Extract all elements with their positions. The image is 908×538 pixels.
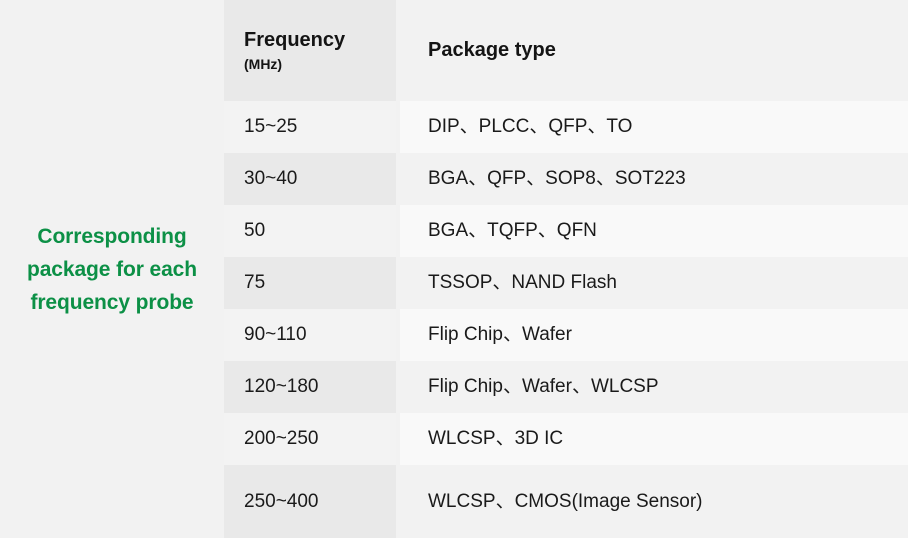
cell-package: BGA、QFP、SOP8、SOT223 [400, 153, 908, 205]
cell-package: Flip Chip、Wafer [400, 309, 908, 361]
frequency-value: 90~110 [244, 323, 396, 347]
cell-package: DIP、PLCC、QFP、TO [400, 101, 908, 153]
package-value: BGA、QFP、SOP8、SOT223 [428, 167, 908, 191]
package-value: TSSOP、NAND Flash [428, 271, 908, 295]
table-row: 15~25 DIP、PLCC、QFP、TO [224, 101, 908, 153]
table-row: 90~110 Flip Chip、Wafer [224, 309, 908, 361]
package-value: WLCSP、CMOS(Image Sensor) [428, 490, 908, 514]
caption-line-1: Corresponding [12, 220, 212, 253]
caption-line-2: package for each [12, 253, 212, 286]
package-value: Flip Chip、Wafer、WLCSP [428, 375, 908, 399]
frequency-value: 200~250 [244, 427, 396, 451]
table-row: 75 TSSOP、NAND Flash [224, 257, 908, 309]
header-frequency-unit: (MHz) [244, 54, 396, 74]
table-row: 250~400 WLCSP、CMOS(Image Sensor) [224, 465, 908, 538]
caption-text: Corresponding package for each frequency… [12, 220, 212, 319]
frequency-package-table: Frequency (MHz) Package type 15~25 DIP、P… [224, 0, 908, 538]
screenshot-root: Corresponding package for each frequency… [0, 0, 908, 538]
cell-package: TSSOP、NAND Flash [400, 257, 908, 309]
cell-package: BGA、TQFP、QFN [400, 205, 908, 257]
caption-panel: Corresponding package for each frequency… [0, 0, 224, 538]
cell-package: WLCSP、3D IC [400, 413, 908, 465]
package-value: WLCSP、3D IC [428, 427, 908, 451]
cell-frequency: 90~110 [224, 309, 396, 361]
package-value: Flip Chip、Wafer [428, 323, 908, 347]
cell-frequency: 75 [224, 257, 396, 309]
cell-frequency: 50 [224, 205, 396, 257]
header-package-type-title: Package type [428, 38, 908, 63]
cell-package: Flip Chip、Wafer、WLCSP [400, 361, 908, 413]
frequency-value: 15~25 [244, 115, 396, 139]
table-header-row: Frequency (MHz) Package type [224, 0, 908, 101]
header-frequency-title: Frequency [244, 28, 396, 53]
package-value: DIP、PLCC、QFP、TO [428, 115, 908, 139]
table-row: 30~40 BGA、QFP、SOP8、SOT223 [224, 153, 908, 205]
frequency-value: 50 [244, 219, 396, 243]
cell-frequency: 120~180 [224, 361, 396, 413]
caption-line-3: frequency probe [12, 286, 212, 319]
frequency-value: 30~40 [244, 167, 396, 191]
cell-frequency: 30~40 [224, 153, 396, 205]
table-row: 200~250 WLCSP、3D IC [224, 413, 908, 465]
header-cell-frequency: Frequency (MHz) [224, 0, 396, 101]
cell-frequency: 200~250 [224, 413, 396, 465]
cell-package: WLCSP、CMOS(Image Sensor) [400, 465, 908, 538]
table-row: 120~180 Flip Chip、Wafer、WLCSP [224, 361, 908, 413]
cell-frequency: 15~25 [224, 101, 396, 153]
cell-frequency: 250~400 [224, 465, 396, 538]
frequency-value: 250~400 [244, 490, 396, 514]
frequency-value: 120~180 [244, 375, 396, 399]
package-value: BGA、TQFP、QFN [428, 219, 908, 243]
table-row: 50 BGA、TQFP、QFN [224, 205, 908, 257]
frequency-value: 75 [244, 271, 396, 295]
header-cell-package-type: Package type [400, 0, 908, 101]
